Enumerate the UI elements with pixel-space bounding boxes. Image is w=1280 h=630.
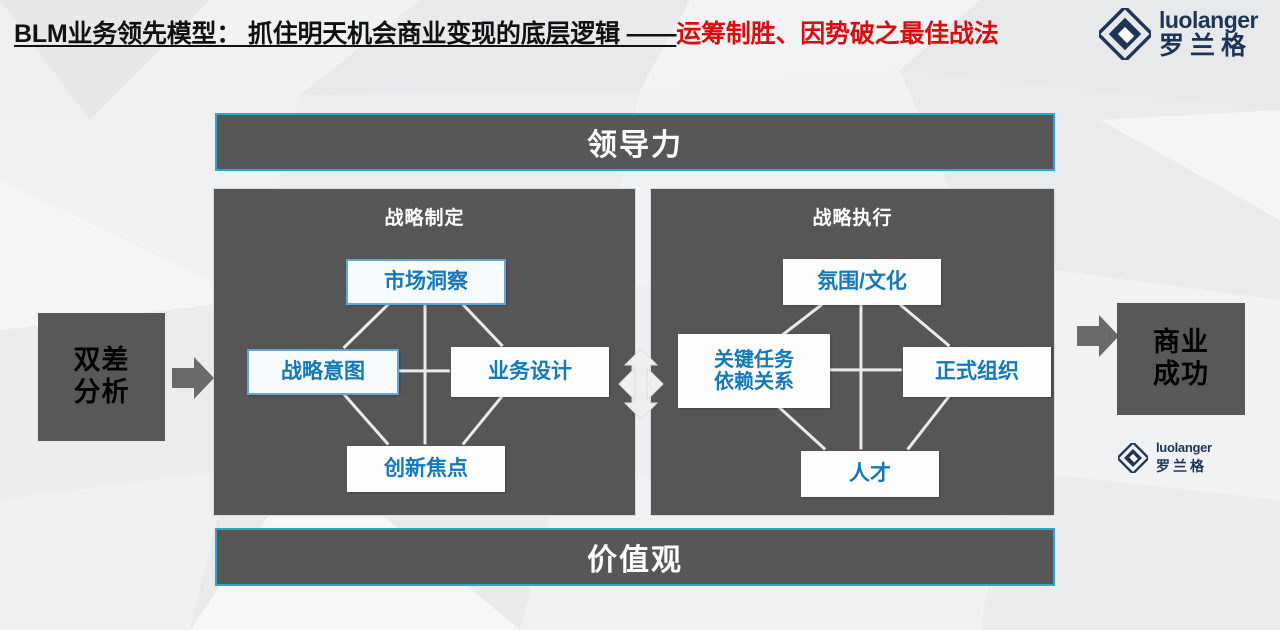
node-innovation-focus[interactable]: 创新焦点 — [347, 446, 505, 492]
output-box-business-success[interactable]: 商业 成功 — [1117, 303, 1245, 415]
input-box-gap-analysis[interactable]: 双差 分析 — [38, 313, 165, 441]
page-title: BLM业务领先模型： 抓住明天机会商业变现的底层逻辑 ——运筹制胜、因势破之最佳… — [14, 14, 1044, 54]
arrow-right-icon-output — [1077, 313, 1119, 359]
panel-strategy-execution: 战略执行 氛围/文化 关键任务 依赖关系 正式组织 人才 — [650, 188, 1055, 516]
bidirectional-connector-icon — [617, 347, 665, 421]
brand-logo-small-latin: luolanger — [1156, 440, 1212, 455]
node-market-insight[interactable]: 市场洞察 — [346, 259, 506, 305]
brand-logo-latin: luolanger — [1159, 9, 1258, 32]
luolanger-diamond-icon — [1099, 8, 1151, 60]
node-formal-organization[interactable]: 正式组织 — [903, 347, 1051, 397]
panel-title-strategy-formulation: 战略制定 — [214, 203, 635, 230]
brand-logo-small[interactable]: luolanger 罗兰格 — [1118, 440, 1212, 476]
node-key-task-dependency[interactable]: 关键任务 依赖关系 — [678, 334, 830, 408]
page-title-accent: 运筹制胜、因势破之最佳战法 — [676, 20, 998, 48]
brand-logo-chinese: 罗兰格 — [1159, 34, 1258, 59]
header: BLM业务领先模型： 抓住明天机会商业变现的底层逻辑 ——运筹制胜、因势破之最佳… — [0, 0, 1280, 100]
node-talent[interactable]: 人才 — [801, 451, 939, 497]
brand-logo[interactable]: luolanger 罗兰格 — [1099, 8, 1258, 60]
output-box-line2: 成功 — [1153, 359, 1209, 389]
panel-strategy-formulation: 战略制定 市场洞察 战略意图 业务设计 创新焦点 — [213, 188, 636, 516]
node-strategic-intent[interactable]: 战略意图 — [247, 349, 399, 395]
node-key-task-line2: 依赖关系 — [714, 371, 794, 393]
leadership-banner[interactable]: 领导力 — [215, 113, 1055, 171]
arrow-right-icon-input — [172, 355, 214, 401]
node-key-task-line1: 关键任务 — [714, 349, 794, 371]
page-title-main: BLM业务领先模型： 抓住明天机会商业变现的底层逻辑 —— — [14, 20, 676, 48]
luolanger-diamond-icon-small — [1118, 443, 1148, 473]
values-banner[interactable]: 价值观 — [215, 528, 1055, 586]
panel-title-strategy-execution: 战略执行 — [651, 203, 1054, 230]
input-box-line1: 双差 — [74, 345, 130, 375]
output-box-line1: 商业 — [1153, 327, 1209, 357]
input-box-line2: 分析 — [74, 377, 130, 407]
node-atmosphere-culture[interactable]: 氛围/文化 — [783, 259, 941, 305]
brand-logo-small-chinese: 罗兰格 — [1156, 456, 1212, 476]
node-business-design[interactable]: 业务设计 — [451, 347, 609, 397]
